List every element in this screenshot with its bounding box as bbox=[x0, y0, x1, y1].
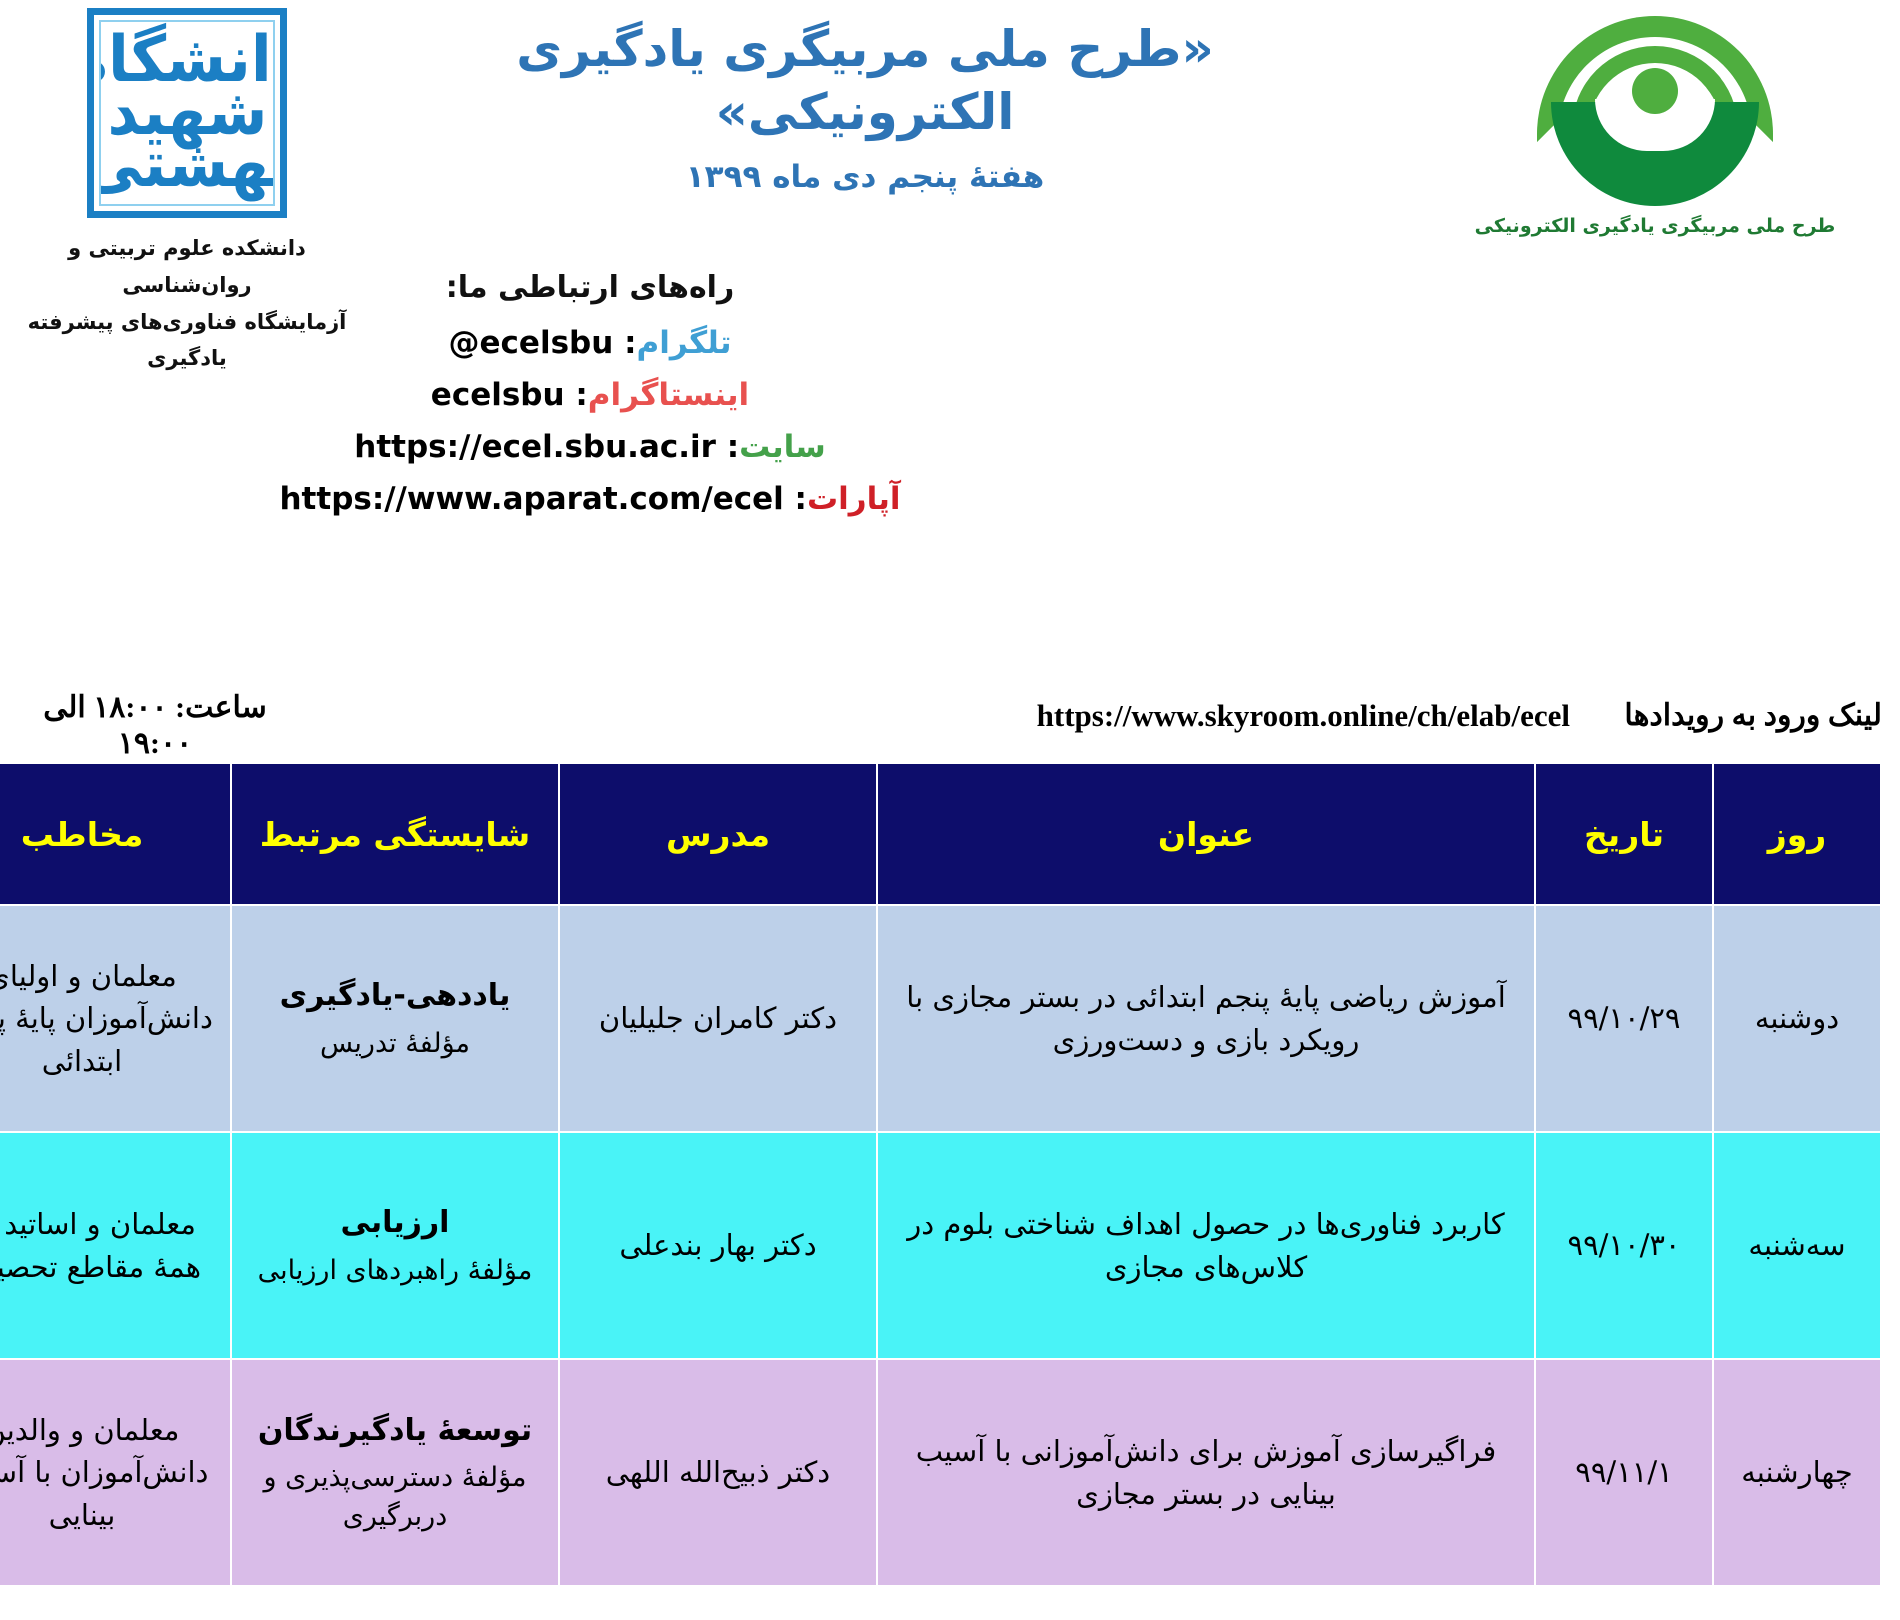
cell-date: ۹۹/۱۰/۳۰ bbox=[1535, 1132, 1713, 1359]
contact-label-telegram: تلگرام bbox=[637, 325, 732, 361]
page-title: «طرح ملی مربیگری یادگیری الکترونیکی» bbox=[360, 18, 1370, 143]
table-row: چهارشنبه ۹۹/۱۱/۱ فراگیرسازی آموزش برای د… bbox=[0, 1359, 1881, 1586]
contact-value-aparat[interactable]: https://www.aparat.com/ecel bbox=[279, 481, 783, 517]
cell-date: ۹۹/۱۰/۲۹ bbox=[1535, 905, 1713, 1132]
contact-row-aparat: آپارات: https://www.aparat.com/ecel bbox=[0, 481, 1180, 517]
schedule-table: روز تاریخ عنوان مدرس شایستگی مرتبط مخاطب… bbox=[0, 762, 1882, 1587]
column-header-competency: شایستگی مرتبط bbox=[231, 763, 559, 905]
cell-competency: یاددهی-یادگیری مؤلفهٔ تدریس bbox=[231, 905, 559, 1132]
cell-day: سه‌شنبه bbox=[1713, 1132, 1881, 1359]
table-row: سه‌شنبه ۹۹/۱۰/۳۰ کاربرد فناوری‌ها در حصو… bbox=[0, 1132, 1881, 1359]
contact-value-website[interactable]: https://ecel.sbu.ac.ir bbox=[354, 429, 716, 465]
contact-label-aparat: آپارات bbox=[807, 481, 901, 517]
ecel-logo-caption: طرح ملی مربیگری یادگیری الکترونیکی bbox=[1440, 215, 1870, 237]
contact-row-telegram: تلگرام: @ecelsbu bbox=[0, 325, 1180, 361]
contact-colon: : bbox=[613, 325, 636, 361]
schedule-table-wrap: روز تاریخ عنوان مدرس شایستگی مرتبط مخاطب… bbox=[18, 762, 1882, 1587]
competency-main: ارزیابی bbox=[240, 1201, 550, 1245]
contact-row-instagram: اینستاگرام: ecelsbu bbox=[0, 377, 1180, 413]
cell-competency: ارزیابی مؤلفهٔ راهبردهای ارزیابی bbox=[231, 1132, 559, 1359]
column-header-audience: مخاطب bbox=[0, 763, 231, 905]
cell-title: آموزش ریاضی پایهٔ پنجم ابتدائی در بستر م… bbox=[877, 905, 1535, 1132]
page-subtitle: هفتهٔ پنجم دی ماه ۱۳۹۹ bbox=[360, 159, 1370, 195]
cell-instructor: دکتر ذبیح‌الله اللهی bbox=[559, 1359, 877, 1586]
ecel-logo-icon bbox=[1530, 10, 1780, 205]
competency-main: یاددهی-یادگیری bbox=[240, 974, 550, 1018]
cell-instructor: دکتر کامران جلیلیان bbox=[559, 905, 877, 1132]
competency-sub: مؤلفهٔ دسترسی‌پذیری و دربرگیری bbox=[240, 1458, 550, 1536]
competency-sub: مؤلفهٔ تدریس bbox=[240, 1024, 550, 1063]
university-logo-calligraphy: دانشگاه شهید بهشتی bbox=[99, 34, 275, 191]
contact-colon: : bbox=[565, 377, 588, 413]
table-header-row: روز تاریخ عنوان مدرس شایستگی مرتبط مخاطب bbox=[0, 763, 1881, 905]
contact-colon: : bbox=[716, 429, 739, 465]
cell-competency: توسعهٔ یادگیرندگان مؤلفهٔ دسترسی‌پذیری و… bbox=[231, 1359, 559, 1586]
contact-colon: : bbox=[784, 481, 807, 517]
contact-label-website: سایت bbox=[739, 429, 826, 465]
table-row: دوشنبه ۹۹/۱۰/۲۹ آموزش ریاضی پایهٔ پنجم ا… bbox=[0, 905, 1881, 1132]
column-header-day: روز bbox=[1713, 763, 1881, 905]
cell-instructor: دکتر بهار بندعلی bbox=[559, 1132, 877, 1359]
cell-day: دوشنبه bbox=[1713, 905, 1881, 1132]
contact-heading: راه‌های ارتباطی ما: bbox=[0, 270, 1180, 305]
competency-sub: مؤلفهٔ راهبردهای ارزیابی bbox=[240, 1251, 550, 1290]
event-link-url[interactable]: https://www.skyroom.online/ch/elab/ecel bbox=[1037, 698, 1570, 734]
event-link-label: لینک ورود به رویدادها bbox=[1624, 698, 1882, 733]
shahid-beheshti-university-logo-icon: دانشگاه شهید بهشتی bbox=[87, 8, 287, 218]
poster-header: دانشگاه شهید بهشتی دانشکده علوم تربیتی و… bbox=[0, 0, 1900, 270]
cell-date: ۹۹/۱۱/۱ bbox=[1535, 1359, 1713, 1586]
cell-audience: معلمان و اولیای دانش‌آموزان پایهٔ پنجم ا… bbox=[0, 905, 231, 1132]
cell-title: کاربرد فناوری‌ها در حصول اهداف شناختی بل… bbox=[877, 1132, 1535, 1359]
event-link-bar: لینک ورود به رویدادها https://www.skyroo… bbox=[0, 690, 1900, 752]
contact-value-instagram[interactable]: ecelsbu bbox=[431, 377, 565, 413]
ecel-program-logo-block: طرح ملی مربیگری یادگیری الکترونیکی bbox=[1440, 10, 1870, 237]
cell-day: چهارشنبه bbox=[1713, 1359, 1881, 1586]
contact-block: راه‌های ارتباطی ما: تلگرام: @ecelsbu این… bbox=[0, 270, 1180, 533]
column-header-instructor: مدرس bbox=[559, 763, 877, 905]
contact-row-website: سایت: https://ecel.sbu.ac.ir bbox=[0, 429, 1180, 465]
competency-main: توسعهٔ یادگیرندگان bbox=[240, 1409, 550, 1453]
cell-audience: معلمان و اساتید در همهٔ مقاطع تحصیلی bbox=[0, 1132, 231, 1359]
event-time-text: ساعت: ۱۸:۰۰ الی ۱۹:۰۰ bbox=[5, 690, 305, 762]
cell-title: فراگیرسازی آموزش برای دانش‌آموزانی با آس… bbox=[877, 1359, 1535, 1586]
cell-audience: معلمان و والدین دانش‌آموزان با آسیب بینا… bbox=[0, 1359, 231, 1586]
title-block: «طرح ملی مربیگری یادگیری الکترونیکی» هفت… bbox=[360, 18, 1370, 195]
column-header-date: تاریخ bbox=[1535, 763, 1713, 905]
contact-label-instagram: اینستاگرام bbox=[588, 377, 749, 413]
column-header-title: عنوان bbox=[877, 763, 1535, 905]
contact-value-telegram[interactable]: @ecelsbu bbox=[449, 325, 614, 361]
